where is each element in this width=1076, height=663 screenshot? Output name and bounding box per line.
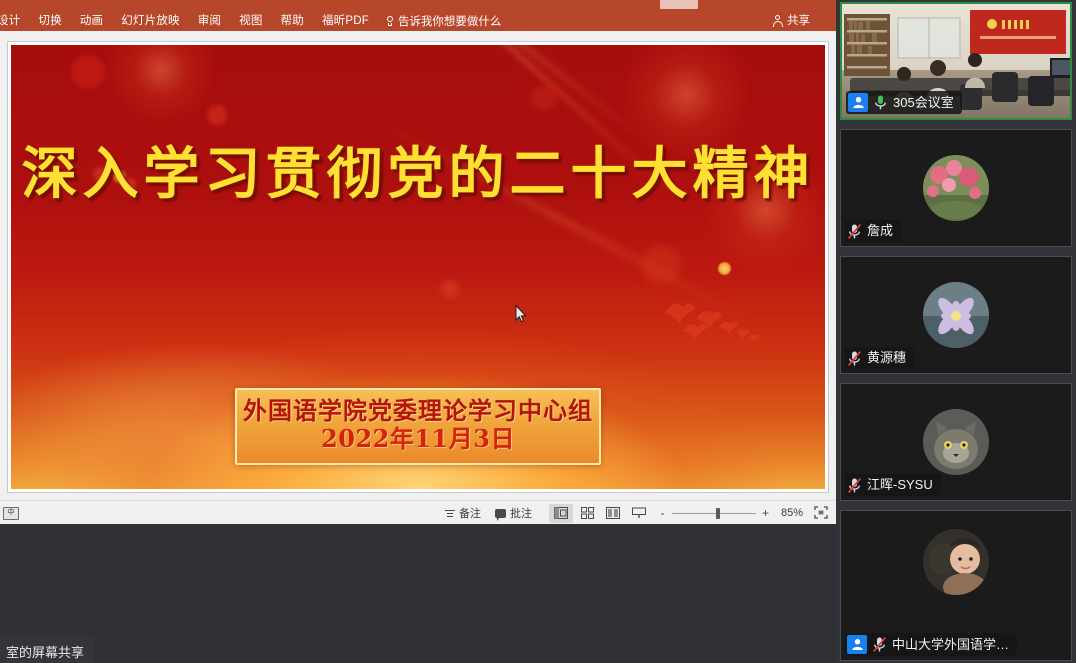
participant-tile-huangyuansui[interactable]: 黄源穗 <box>840 256 1072 374</box>
view-slide-sorter[interactable] <box>575 504 599 523</box>
tab-animations[interactable]: 动画 <box>71 11 112 31</box>
share-button[interactable]: 共享 <box>772 11 810 31</box>
participant-namebar: 黄源穗 <box>845 347 914 369</box>
avatar <box>923 155 989 221</box>
participant-tile-sysu-foreign-languages[interactable]: 中山大学外国语学… <box>840 510 1072 661</box>
firework-decor <box>101 45 221 125</box>
microphone-icon <box>873 94 888 111</box>
zoom-slider[interactable] <box>672 508 756 518</box>
notes-button[interactable]: 备注 <box>438 503 488 523</box>
slide-frame[interactable]: 深入学习贯彻党的二十大精神 外国语学院党委理论学习中心组 2022年11月3日 <box>8 42 828 492</box>
microphone-muted-icon <box>872 636 887 653</box>
fit-to-window-icon <box>814 506 828 519</box>
participant-namebar: 詹成 <box>845 220 901 242</box>
normal-view-icon <box>554 507 568 519</box>
slide-subtitle-line-1: 外国语学院党委理论学习中心组 <box>237 397 599 425</box>
slide-subtitle-box[interactable]: 外国语学院党委理论学习中心组 2022年11月3日 <box>235 388 601 465</box>
comment-icon <box>495 509 506 518</box>
shared-powerpoint-window: 设计 切换 动画 幻灯片放映 审阅 视图 帮助 福昕PDF 告诉我你想要做什么 … <box>0 0 836 524</box>
tab-transitions[interactable]: 切换 <box>29 11 70 31</box>
tab-help[interactable]: 帮助 <box>272 11 313 31</box>
participant-namebar: 305会议室 <box>846 91 962 114</box>
participant-icon <box>847 635 867 654</box>
view-reading[interactable] <box>601 504 625 523</box>
avatar <box>923 282 989 348</box>
reading-view-icon <box>606 507 620 519</box>
participant-namebar: 江晖-SYSU <box>845 474 941 496</box>
lightbulb-icon <box>386 16 394 27</box>
zoom-level-label: 85% <box>775 507 803 519</box>
view-normal[interactable] <box>549 504 573 523</box>
participant-namebar: 中山大学外国语学… <box>845 633 1017 656</box>
slide-canvas-area: 深入学习贯彻党的二十大精神 外国语学院党委理论学习中心组 2022年11月3日 <box>0 31 836 500</box>
microphone-muted-icon <box>847 350 862 367</box>
flying-birds-decor <box>661 297 771 357</box>
language-input-icon[interactable]: 中 <box>3 507 19 520</box>
tell-me-label: 告诉我你想要做什么 <box>398 13 502 29</box>
screen-share-banner: 室的屏幕共享 <box>0 636 94 663</box>
comments-label: 批注 <box>510 505 532 521</box>
notes-icon <box>445 508 455 518</box>
participant-name: 江晖-SYSU <box>867 476 933 494</box>
participant-name: 黄源穗 <box>867 349 906 367</box>
tell-me-search[interactable]: 告诉我你想要做什么 <box>378 13 510 29</box>
sun-dot-decor <box>718 262 731 275</box>
view-slideshow[interactable] <box>627 504 651 523</box>
fit-to-window-button[interactable] <box>814 506 830 520</box>
comments-button[interactable]: 批注 <box>488 503 539 523</box>
participant-filmstrip: 305会议室 <box>836 0 1076 663</box>
participant-tile-zhancheng[interactable]: 詹成 <box>840 129 1072 247</box>
zoom-out-button[interactable]: - <box>658 506 667 520</box>
slide-surface[interactable]: 深入学习贯彻党的二十大精神 外国语学院党委理论学习中心组 2022年11月3日 <box>11 45 825 489</box>
ribbon-tab-row: 设计 切换 动画 幻灯片放映 审阅 视图 帮助 福昕PDF 告诉我你想要做什么 <box>0 11 509 31</box>
slide-title[interactable]: 深入学习贯彻党的二十大精神 <box>11 129 825 210</box>
tab-slideshow[interactable]: 幻灯片放映 <box>112 11 189 31</box>
bokeh-decor <box>531 85 557 111</box>
participant-icon <box>848 93 868 112</box>
tab-design[interactable]: 设计 <box>0 11 29 31</box>
bokeh-decor <box>207 105 227 125</box>
participant-name: 305会议室 <box>893 94 954 112</box>
microphone-muted-icon <box>847 223 862 240</box>
status-bar-right: 备注 批注 <box>438 503 836 523</box>
avatar <box>923 409 989 475</box>
slide-subtitle-line-2: 2022年11月3日 <box>237 425 599 453</box>
slide-sorter-icon <box>581 507 594 519</box>
status-bar: 中 备注 批注 <box>0 500 836 524</box>
microphone-muted-icon <box>847 477 862 494</box>
zoom-control: - + 85% <box>658 506 830 520</box>
participant-tile-jianghui-sysu[interactable]: 江晖-SYSU <box>840 383 1072 501</box>
shared-screen-gap <box>0 524 836 663</box>
participant-name: 中山大学外国语学… <box>892 636 1009 654</box>
tab-foxit-pdf[interactable]: 福昕PDF <box>313 11 378 31</box>
slideshow-icon <box>632 507 646 519</box>
avatar <box>923 529 989 595</box>
participant-tile-305-meeting-room[interactable]: 305会议室 <box>840 2 1072 120</box>
bokeh-decor <box>641 245 681 285</box>
zoom-slider-thumb[interactable] <box>716 508 720 519</box>
arrow-cursor <box>515 305 527 323</box>
quick-access-chip <box>660 0 698 9</box>
person-share-icon <box>772 15 783 27</box>
bokeh-decor <box>441 280 459 298</box>
zoom-in-button[interactable]: + <box>761 506 770 520</box>
bokeh-decor <box>71 55 105 89</box>
tab-view[interactable]: 视图 <box>230 11 271 31</box>
notes-label: 备注 <box>459 505 481 521</box>
screen-root: 设计 切换 动画 幻灯片放映 审阅 视图 帮助 福昕PDF 告诉我你想要做什么 … <box>0 0 1076 663</box>
tab-review[interactable]: 审阅 <box>189 11 230 31</box>
participant-name: 詹成 <box>867 222 893 240</box>
view-mode-group <box>549 504 651 523</box>
share-label: 共享 <box>787 11 810 31</box>
status-bar-left: 中 <box>0 507 19 520</box>
ribbon-bar: 设计 切换 动画 幻灯片放映 审阅 视图 帮助 福昕PDF 告诉我你想要做什么 … <box>0 0 836 31</box>
